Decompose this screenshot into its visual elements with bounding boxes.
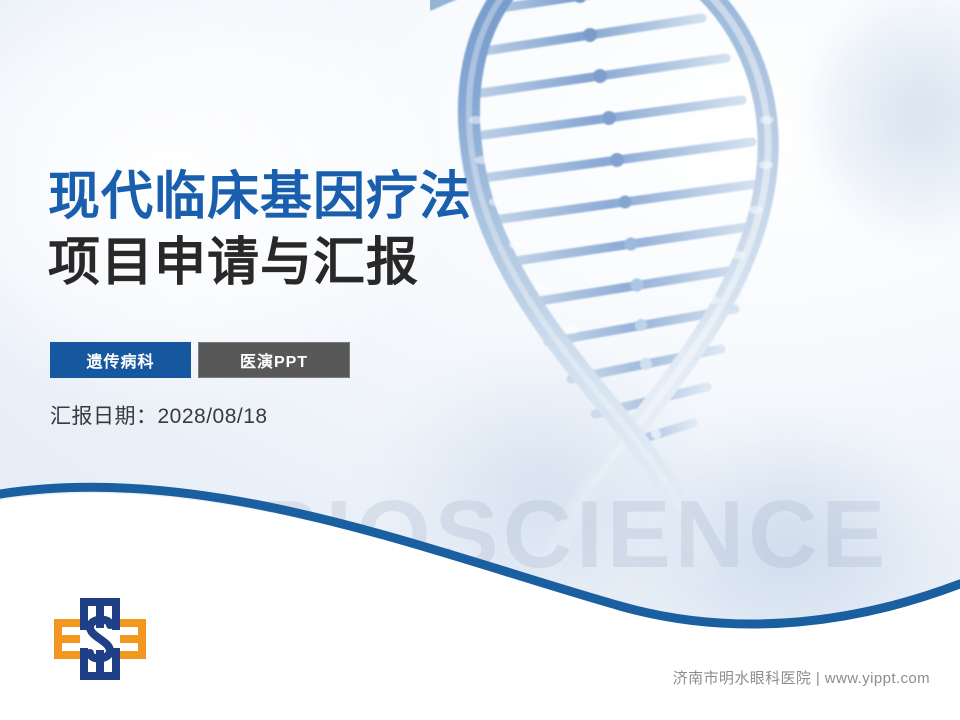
badge-template-source[interactable]: 医演PPT: [198, 342, 350, 378]
hospital-cross-logo: [52, 596, 148, 682]
report-date: 汇报日期：2028/08/18: [50, 400, 268, 430]
badge-group: 遗传病科 医演PPT: [50, 342, 350, 378]
page-title-primary: 现代临床基因疗法: [48, 166, 472, 228]
footer-credit: 济南市明水眼科医院 | www.yippt.com: [673, 667, 930, 688]
badge-department[interactable]: 遗传病科: [50, 342, 191, 378]
presentation-title-slide: BIOSCIENCE 现代临床基因疗法 项目申请与汇报 遗传病科 医演PPT 汇…: [0, 0, 960, 720]
title-block: 现代临床基因疗法 项目申请与汇报: [48, 166, 472, 294]
page-title-secondary: 项目申请与汇报: [48, 232, 472, 294]
